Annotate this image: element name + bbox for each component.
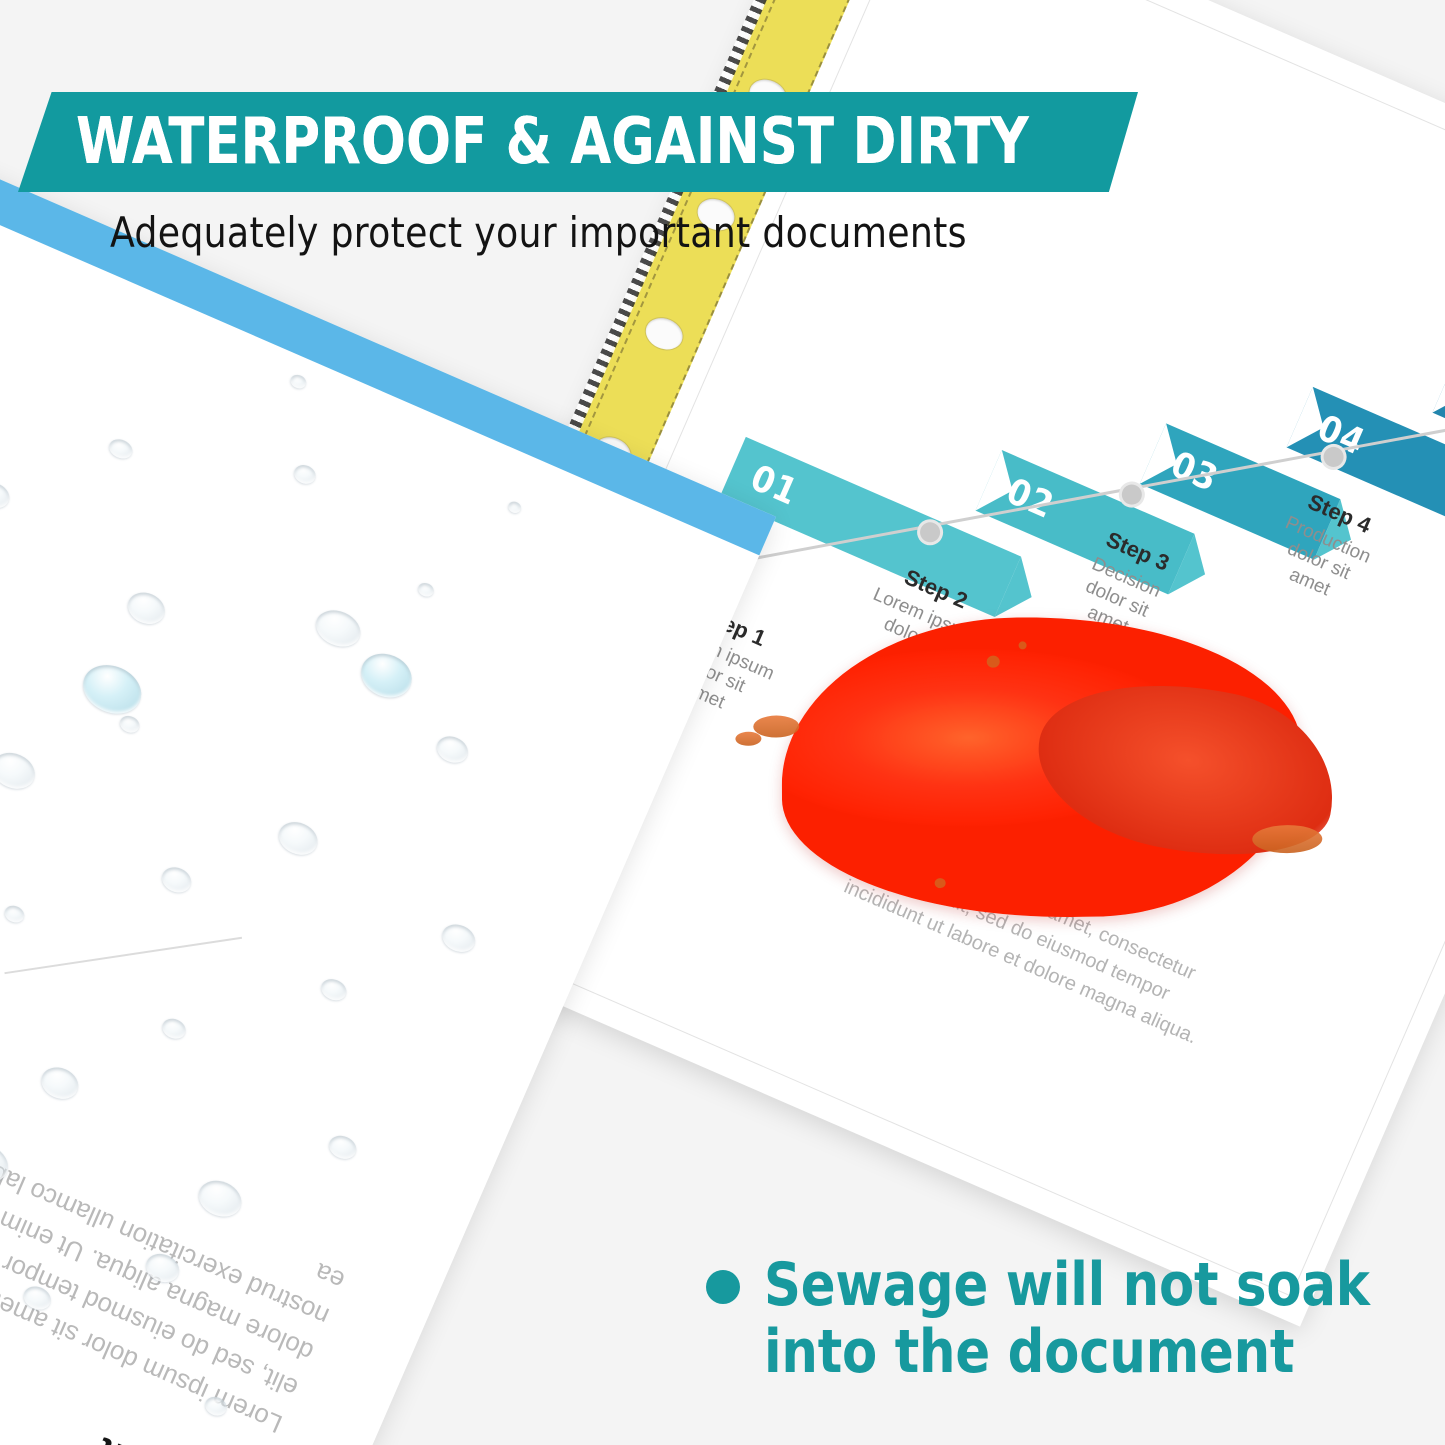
left-document-heading: Lorem ipsum dolor sit xyxy=(57,1430,252,1445)
left-document-body-copy: Lorem ipsum dolor sit amet, consec tetur… xyxy=(0,1017,351,1443)
callout-line-1: Sewage will not soak xyxy=(764,1252,1370,1319)
document-body-copy: Lorem ipsum dolor sit amet, consectetur … xyxy=(839,820,1268,1071)
bullet-dot-icon xyxy=(706,1270,740,1304)
feature-callout: Sewage will not soak into the document xyxy=(706,1252,1406,1386)
ribbon-number: 02 xyxy=(1001,470,1061,526)
heading-line-3: dolor sit xyxy=(90,1430,251,1445)
callout-line-2: into the document xyxy=(764,1319,1370,1386)
product-infographic-canvas: 01 02 03 04 05 xyxy=(0,0,1445,1445)
header-banner: WATERPROOF & AGAINST DIRTY xyxy=(18,92,1138,192)
ribbon-number: 01 xyxy=(745,457,805,513)
page-title: WATERPROOF & AGAINST DIRTY xyxy=(18,92,1048,192)
punch-hole xyxy=(641,312,688,355)
chart-connector xyxy=(4,937,242,974)
page-subtitle: Adequately protect your important docume… xyxy=(110,208,967,257)
callout-text: Sewage will not soak into the document xyxy=(764,1252,1370,1386)
